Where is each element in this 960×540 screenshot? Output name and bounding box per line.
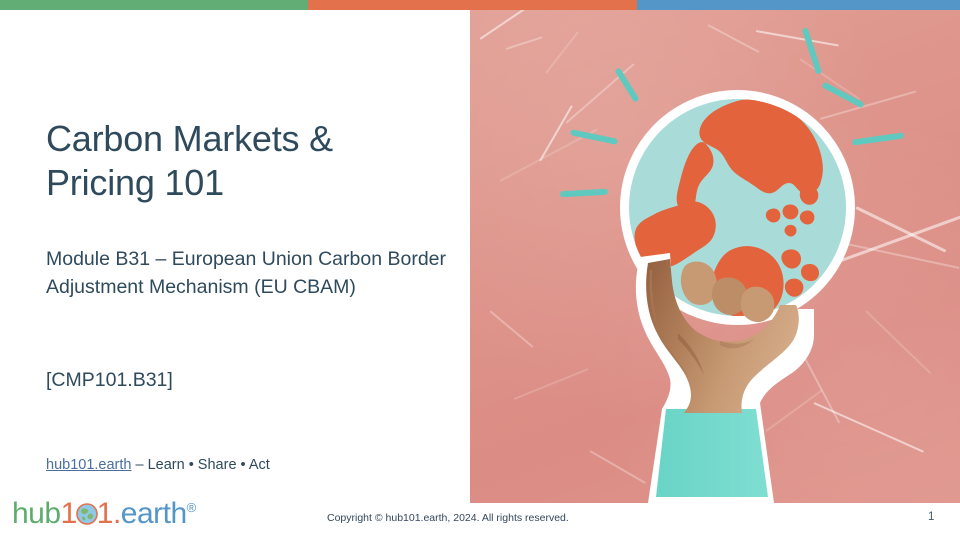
accent-segment-green [0,0,308,10]
accent-segment-blue [637,0,960,10]
hand-holding-globe [628,213,818,503]
module-subtitle: Module B31 – European Union Carbon Borde… [46,246,446,301]
hero-image [470,10,960,503]
logo-text-earth: earth [121,497,187,530]
copyright-notice: Copyright © hub101.earth, 2024. All righ… [327,512,569,524]
brand-logo[interactable]: hub1 1.earth® [12,499,196,529]
logo-text-one-b: 1 [97,497,113,530]
top-accent-bar [0,0,960,10]
logo-text-dot: . [113,497,121,530]
accent-segment-orange [308,0,637,10]
tagline: hub101.earth – Learn • Share • Act [46,457,466,473]
logo-trademark: ® [187,500,196,515]
module-code: [CMP101.B31] [46,367,446,395]
page-title: Carbon Markets & Pricing 101 [46,117,446,205]
tagline-rest: – Learn • Share • Act [131,457,269,473]
page-number: 1 [928,511,934,523]
logo-text-hub: hub [12,497,61,530]
slide-canvas: Carbon Markets & Pricing 101 Module B31 … [0,0,960,540]
hub101-link[interactable]: hub101.earth [46,457,131,473]
logo-text-one-a: 1 [61,497,77,530]
hand-shape [628,213,818,503]
earth-globe-icon [76,501,98,523]
earth-globe-icon-svg [76,503,98,525]
